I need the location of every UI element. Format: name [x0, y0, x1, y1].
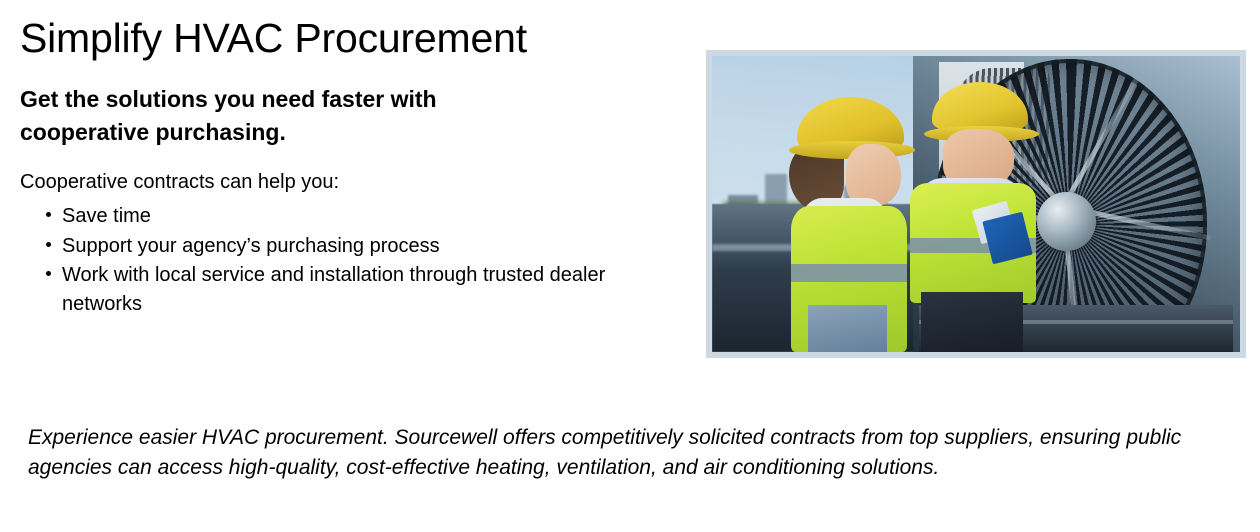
- list-item: Work with local service and installation…: [20, 261, 662, 319]
- list-item: Save time: [20, 202, 662, 231]
- intro-text: Cooperative contracts can help you:: [20, 148, 690, 194]
- jeans: [808, 305, 888, 352]
- face: [846, 144, 901, 207]
- worker-female: [786, 92, 923, 352]
- fan-hub: [1037, 192, 1096, 251]
- hero-image: [712, 56, 1240, 352]
- hero-image-frame: [706, 50, 1246, 358]
- list-item: Support your agency’s purchasing process: [20, 232, 662, 261]
- bullet-icon: [46, 271, 51, 276]
- benefits-list: Save time Support your agency’s purchasi…: [20, 194, 690, 319]
- list-item-label: Save time: [62, 205, 151, 227]
- text-column: Simplify HVAC Procurement Get the soluti…: [20, 0, 690, 319]
- trousers: [921, 292, 1023, 352]
- promo-banner: Simplify HVAC Procurement Get the soluti…: [0, 0, 1260, 532]
- worker-male: [907, 80, 1044, 352]
- bullet-icon: [46, 242, 51, 247]
- bullet-icon: [46, 212, 51, 217]
- page-title: Simplify HVAC Procurement: [20, 0, 690, 59]
- subheading-line-2: cooperative purchasing.: [20, 116, 580, 149]
- subheading-line-1: Get the solutions you need faster with: [20, 86, 437, 112]
- list-item-label: Work with local service and installation…: [62, 264, 605, 315]
- list-item-label: Support your agency’s purchasing process: [62, 235, 440, 257]
- summary-paragraph: Experience easier HVAC procurement. Sour…: [28, 423, 1218, 483]
- subheading: Get the solutions you need faster with c…: [20, 59, 580, 148]
